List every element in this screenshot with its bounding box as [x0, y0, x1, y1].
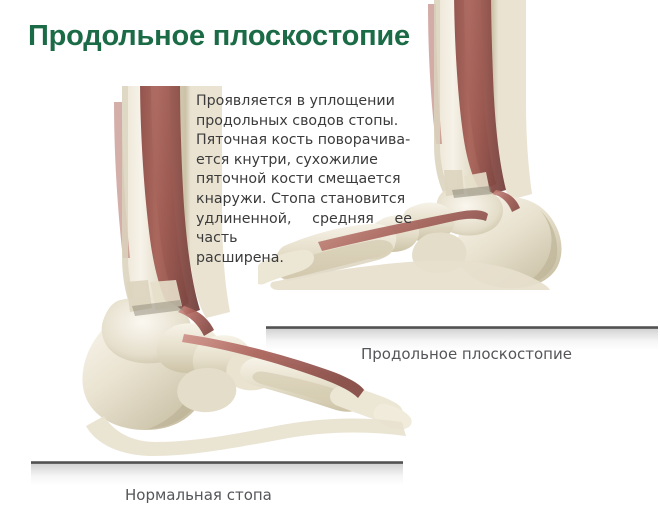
illustration-page: Продольное плоскостопие	[0, 0, 660, 516]
description-line: ется кнутри, сухожилие	[196, 151, 412, 171]
description-line: продольных сводов стопы.	[196, 112, 412, 132]
description-line: пяточной кости смещается	[196, 170, 412, 190]
description-line: удлиненной, средняя ее часть	[196, 210, 412, 249]
caption-normalfoot: Нормальная стопа	[125, 486, 272, 504]
description-line: кнаружи. Стопа становится	[196, 190, 412, 210]
caption-flatfoot: Продольное плоскостопие	[361, 345, 572, 363]
ground-shadow-normalfoot	[31, 464, 403, 486]
normalfoot-foot-group	[82, 280, 411, 456]
fibula-bone	[498, 0, 532, 200]
description-paragraph: Проявляется в уплощении продольных сводо…	[196, 92, 412, 268]
description-line: расширена.	[196, 249, 412, 269]
description-line: Проявляется в уплощении	[196, 92, 412, 112]
cuboid-bone	[177, 368, 236, 412]
description-line: Пяточная кость поворачива-	[196, 131, 412, 151]
